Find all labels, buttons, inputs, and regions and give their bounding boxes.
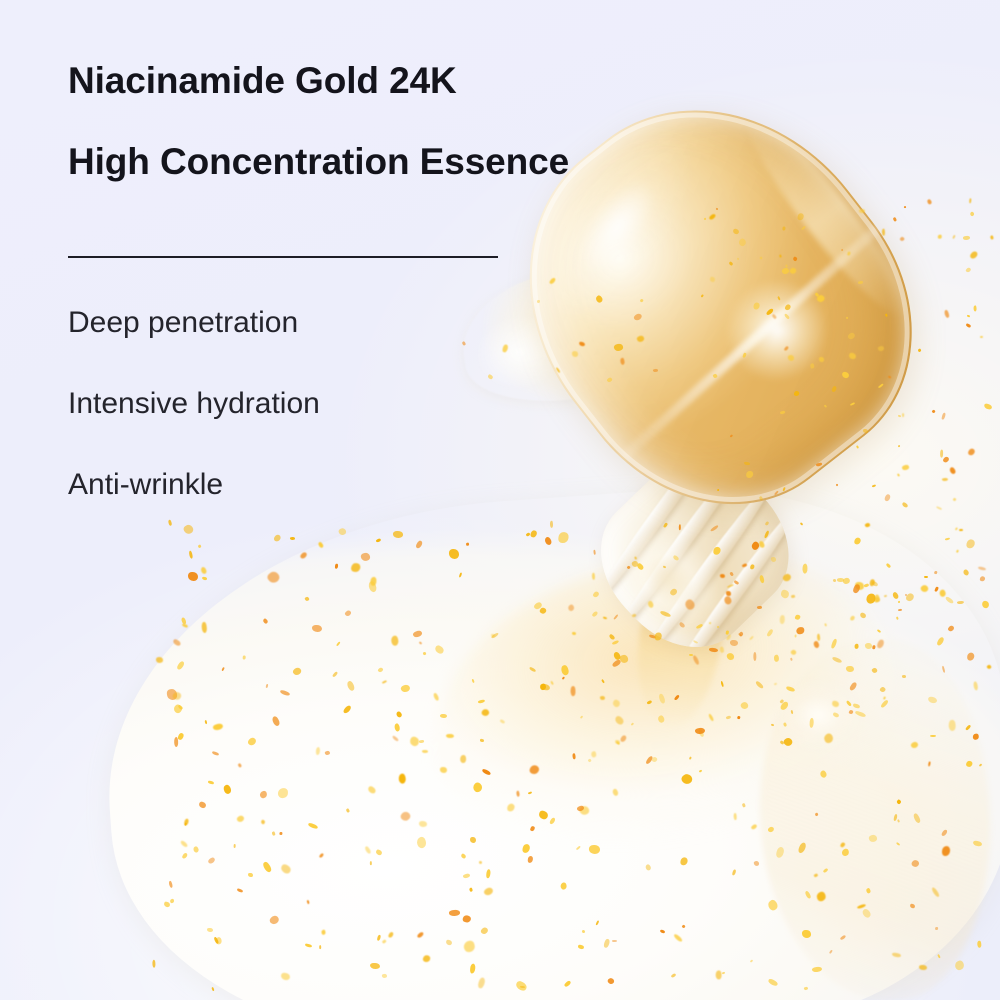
gold-flake [899,236,904,242]
gold-flake [188,551,193,559]
gold-flake [199,567,207,576]
gold-flake [182,623,188,628]
product-banner: Niacinamide Gold 24K High Concentration … [0,0,1000,1000]
gold-flake [181,617,188,626]
gold-flake [969,211,975,217]
gold-flake [893,217,897,222]
gold-flake [188,572,198,581]
feature-item: Anti-wrinkle [68,470,588,500]
gold-flake [973,305,977,311]
gold-flake [977,940,982,947]
gold-flake [967,314,970,317]
gold-flake [969,199,971,204]
gold-flake [904,206,907,209]
gold-flake [965,267,971,273]
page-title: Niacinamide Gold 24K [68,62,628,99]
gold-flake [198,544,202,548]
gold-flake [926,199,932,205]
gold-flake [182,523,194,535]
serum-puddle-lobe [770,676,866,754]
page-subtitle: High Concentration Essence [68,143,628,180]
gold-flake [290,537,295,541]
gold-flake [273,534,282,543]
gold-flake [962,569,970,577]
feature-item: Intensive hydration [68,389,588,419]
gold-flake [956,550,959,554]
gold-flake [981,600,989,609]
gold-flake [978,567,986,571]
gold-flake [980,336,983,338]
gold-flake [167,520,172,526]
feature-item: Deep penetration [68,308,588,338]
gold-flake [938,234,942,238]
headline-block: Niacinamide Gold 24K High Concentration … [68,62,628,180]
gold-flake [152,960,156,968]
gold-flake [212,987,215,991]
gold-flake [963,235,970,240]
gold-flake [969,250,979,260]
feature-list: Deep penetrationIntensive hydrationAnti-… [68,308,588,500]
gold-flake [966,323,971,327]
gold-flake [979,575,985,582]
gold-flake [202,577,208,581]
divider [68,256,498,258]
gold-flake [990,235,994,240]
gold-flake [952,235,955,239]
gold-flake [966,539,975,549]
